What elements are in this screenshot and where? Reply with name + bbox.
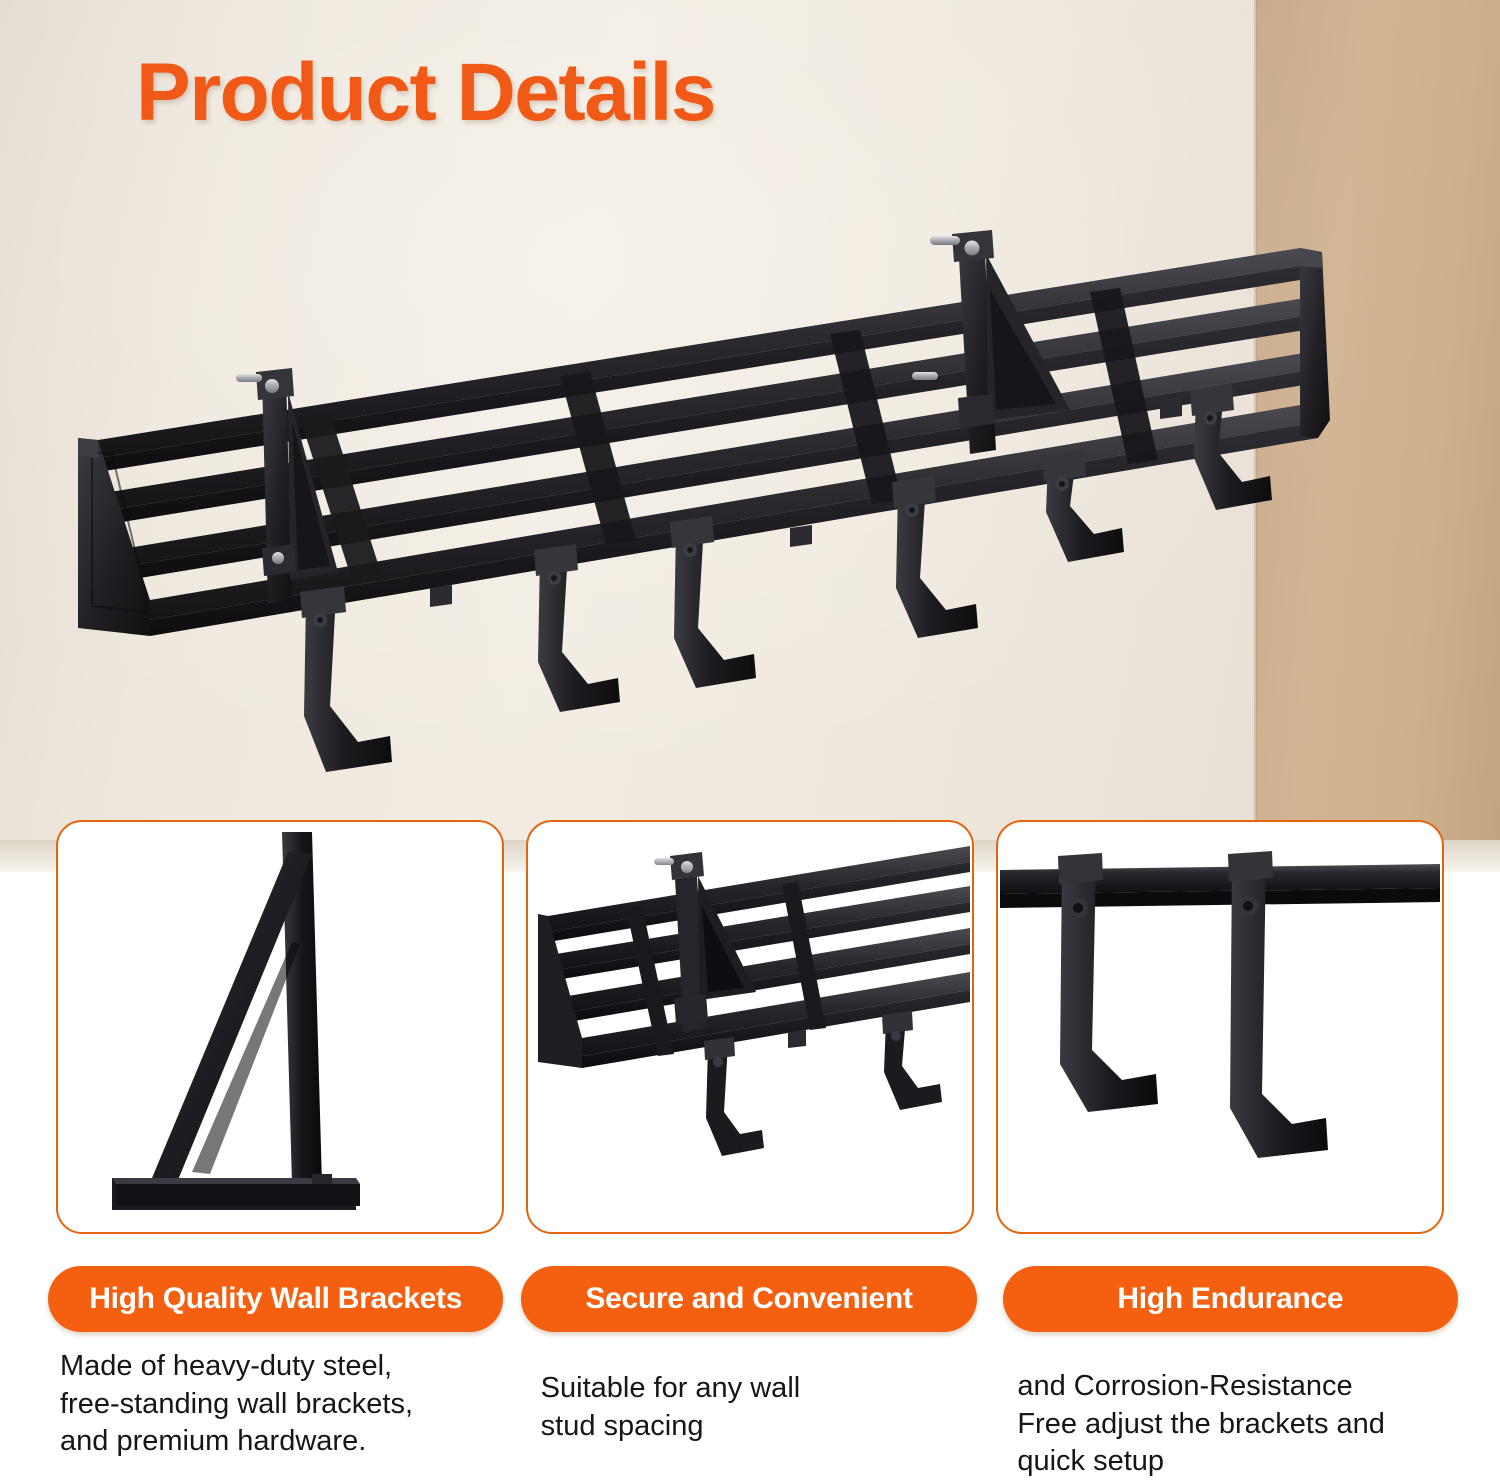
feature-badges-row: High Quality Wall Brackets Secure and Co… bbox=[0, 1266, 1500, 1332]
description-line: Free adjust the brackets and bbox=[1017, 1406, 1454, 1444]
description-line: Suitable for any wall bbox=[541, 1370, 978, 1408]
description-high-endurance: and Corrosion-Resistance Free adjust the… bbox=[999, 1348, 1454, 1482]
rack-end-bracket-image bbox=[528, 822, 972, 1232]
description-wall-brackets: Made of heavy-duty steel, free-standing … bbox=[46, 1348, 497, 1482]
rack-j-hook-1 bbox=[300, 586, 392, 772]
description-line: and Corrosion-Resistance bbox=[1017, 1368, 1454, 1406]
description-line: and premium hardware. bbox=[60, 1423, 497, 1461]
hero-section: Product Details bbox=[0, 0, 1500, 872]
detail-card-secure-mount[interactable] bbox=[526, 820, 974, 1234]
rack-j-hook-3 bbox=[670, 516, 756, 688]
detail-card-wall-bracket[interactable] bbox=[56, 820, 504, 1234]
feature-descriptions-row: Made of heavy-duty steel, free-standing … bbox=[0, 1348, 1500, 1482]
badge-high-endurance[interactable]: High Endurance bbox=[1003, 1266, 1458, 1332]
triangular-wall-bracket-image bbox=[58, 822, 502, 1232]
product-rack-illustration bbox=[0, 0, 1500, 872]
rack-right-end-frame bbox=[1300, 248, 1330, 438]
rack-j-hook-4 bbox=[892, 476, 978, 638]
badge-secure-and-convenient[interactable]: Secure and Convenient bbox=[521, 1266, 976, 1332]
description-line: Made of heavy-duty steel, bbox=[60, 1348, 497, 1386]
badge-high-quality-wall-brackets[interactable]: High Quality Wall Brackets bbox=[48, 1266, 503, 1332]
description-line: quick setup bbox=[1017, 1443, 1454, 1481]
detail-card-endurance-hooks[interactable] bbox=[996, 820, 1444, 1234]
description-line: free-standing wall brackets, bbox=[60, 1386, 497, 1424]
description-secure-convenient: Suitable for any wall stud spacing bbox=[519, 1348, 978, 1482]
description-line: stud spacing bbox=[541, 1408, 978, 1446]
rack-j-hook-2 bbox=[534, 544, 620, 712]
crossbar-with-hooks-image bbox=[998, 822, 1442, 1232]
detail-cards-row bbox=[0, 820, 1500, 1234]
